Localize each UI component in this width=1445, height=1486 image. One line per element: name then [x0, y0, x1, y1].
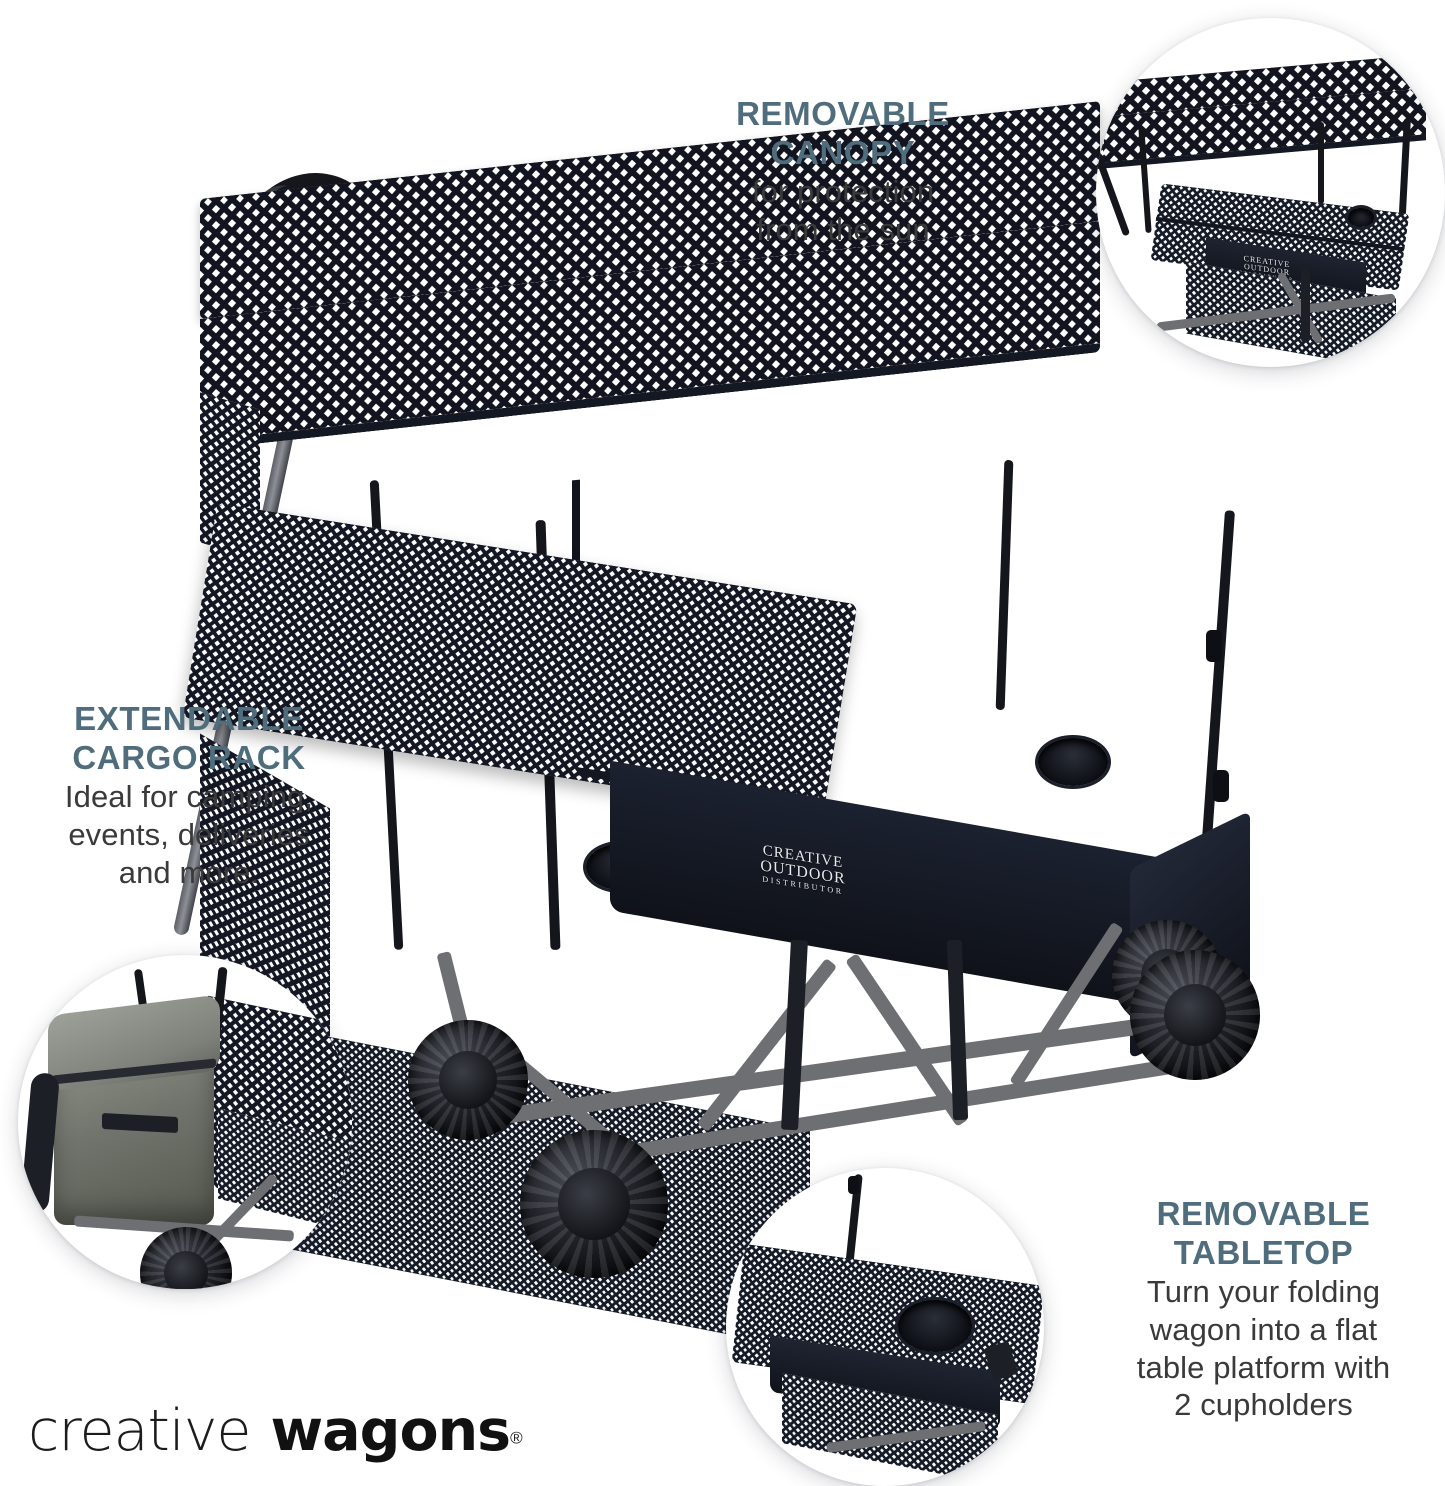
- inset-tabletop-scene: [726, 1168, 1044, 1486]
- pole-joint-4: [1213, 770, 1229, 802]
- strap-center: [781, 940, 808, 1131]
- callout-tabletop-body-line2: wagon into a flat: [1082, 1311, 1445, 1349]
- wheel-front-right: [520, 1130, 668, 1278]
- wheel-front-left: [408, 1020, 528, 1140]
- callout-cargo-heading-line2: CARGO RACK: [0, 739, 378, 778]
- callout-removable-canopy: REMOVABLE CANOPY for protection from the…: [648, 95, 1038, 249]
- callout-canopy-body-line1: for protection: [648, 173, 1038, 211]
- callout-cargo-body-line1: Ideal for camping,: [0, 778, 378, 816]
- callout-cargo-heading-line1: EXTENDABLE: [0, 700, 378, 739]
- pole-joint-3: [1206, 630, 1222, 662]
- inset-cargo-rack-detail: [18, 955, 352, 1289]
- inset-cargo-scene: [18, 955, 352, 1289]
- callout-cargo-body-line3: and more.: [0, 854, 378, 892]
- callout-tabletop-body-line1: Turn your folding: [1082, 1273, 1445, 1311]
- callout-canopy-heading-line1: REMOVABLE: [648, 95, 1038, 134]
- wheel-rear-right: [1130, 950, 1260, 1080]
- inset-table-cupholder: [898, 1300, 972, 1352]
- callout-canopy-heading-line2: CANOPY: [648, 134, 1038, 173]
- callout-cargo-body-line2: events, deliveries: [0, 816, 378, 854]
- brand-word-creative: creative: [28, 1398, 251, 1464]
- inset-canopy-detail: CREATIVE OUTDOOR DISTRIBUTOR: [1096, 18, 1445, 367]
- inset-pole-mid: [1318, 122, 1324, 204]
- inset-cupholder: [1348, 208, 1374, 227]
- canopy-pole-rear-right: [996, 460, 1014, 710]
- callout-removable-tabletop: REMOVABLE TABLETOP Turn your folding wag…: [1082, 1195, 1445, 1424]
- callout-extendable-cargo-rack: EXTENDABLE CARGO RACK Ideal for camping,…: [0, 700, 378, 891]
- inset-canopy-scene: CREATIVE OUTDOOR DISTRIBUTOR: [1096, 18, 1445, 367]
- callout-canopy-body-line2: from the sun: [648, 211, 1038, 249]
- inset-tabletop-detail: [726, 1168, 1044, 1486]
- inset-table-pole-joint: [848, 1176, 859, 1194]
- callout-tabletop-heading-line2: TABLETOP: [1082, 1234, 1445, 1273]
- callout-tabletop-heading-line1: REMOVABLE: [1082, 1195, 1445, 1234]
- callout-tabletop-body-line4: 2 cupholders: [1082, 1386, 1445, 1424]
- brand-logo: creativewagons®: [28, 1398, 523, 1464]
- brand-word-wagons: wagons: [271, 1398, 511, 1464]
- frame-brace-x1: [697, 958, 837, 1132]
- brand-registered-mark: ®: [510, 1429, 523, 1448]
- inset-strap: [1301, 268, 1310, 342]
- callout-tabletop-body-line3: table platform with: [1082, 1349, 1445, 1387]
- infographic-canvas: CREATIVE OUTDOOR DISTRIBUTOR REMOVABLE C…: [0, 0, 1445, 1486]
- cupholder-right: [1038, 738, 1108, 786]
